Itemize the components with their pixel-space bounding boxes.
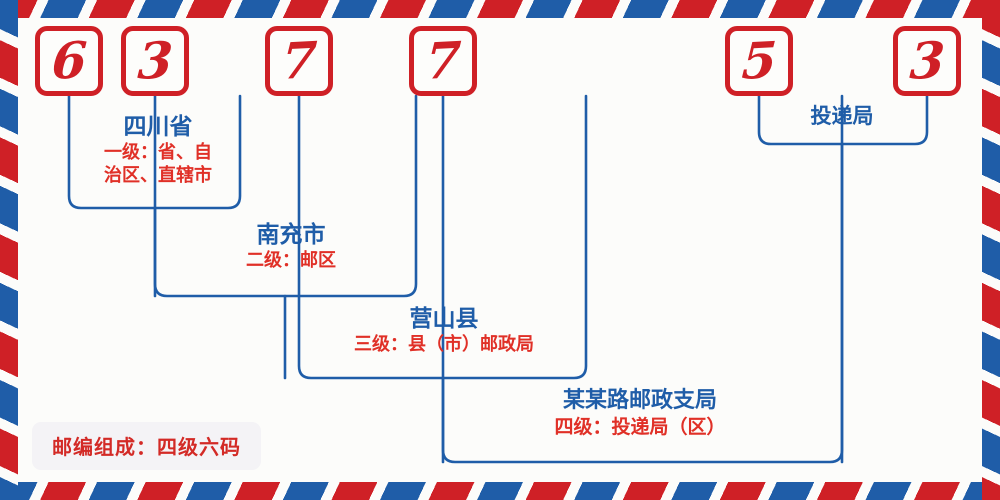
- city-name: 南充市: [196, 222, 386, 248]
- digit-box-1[interactable]: 6: [35, 26, 103, 96]
- city-level: 二级：邮区: [196, 251, 386, 271]
- county-level: 三级：县（市）邮政局: [312, 335, 576, 355]
- level-label-province: 四川省 一级：省、自 治区、直辖市: [76, 114, 240, 186]
- envelope-canvas: 6 3 7 7 5 3 四川省 一级：省、自 治区、直辖市 南充市 二级：邮区 …: [0, 0, 1000, 500]
- branch-level: 四级：投递局（区）: [470, 417, 810, 438]
- level-label-city: 南充市 二级：邮区: [196, 222, 386, 271]
- level-label-branch: 某某路邮政支局 四级：投递局（区）: [470, 388, 810, 438]
- digit-glyph-2: 3: [136, 35, 174, 87]
- digit-glyph-4: 7: [424, 35, 462, 87]
- province-level-line2: 治区、直辖市: [76, 166, 240, 186]
- province-level-line1: 一级：省、自: [76, 143, 240, 163]
- digit-box-2[interactable]: 3: [121, 26, 189, 96]
- digit-glyph-6: 3: [908, 35, 946, 87]
- county-name: 营山县: [312, 306, 576, 332]
- digit-glyph-3: 7: [280, 35, 318, 87]
- digit-box-4[interactable]: 7: [409, 26, 477, 96]
- digit-glyph-1: 6: [50, 35, 88, 87]
- digit-box-6[interactable]: 3: [893, 26, 961, 96]
- delivery-name: 投递局: [760, 104, 924, 128]
- branch-name: 某某路邮政支局: [470, 388, 810, 413]
- digit-glyph-5: 5: [740, 35, 778, 87]
- level-label-county: 营山县 三级：县（市）邮政局: [312, 306, 576, 355]
- province-name: 四川省: [76, 114, 240, 140]
- legend-chip: 邮编组成：四级六码: [32, 422, 261, 470]
- digit-box-5[interactable]: 5: [725, 26, 793, 96]
- level-label-delivery: 投递局: [760, 104, 924, 128]
- digit-box-3[interactable]: 7: [265, 26, 333, 96]
